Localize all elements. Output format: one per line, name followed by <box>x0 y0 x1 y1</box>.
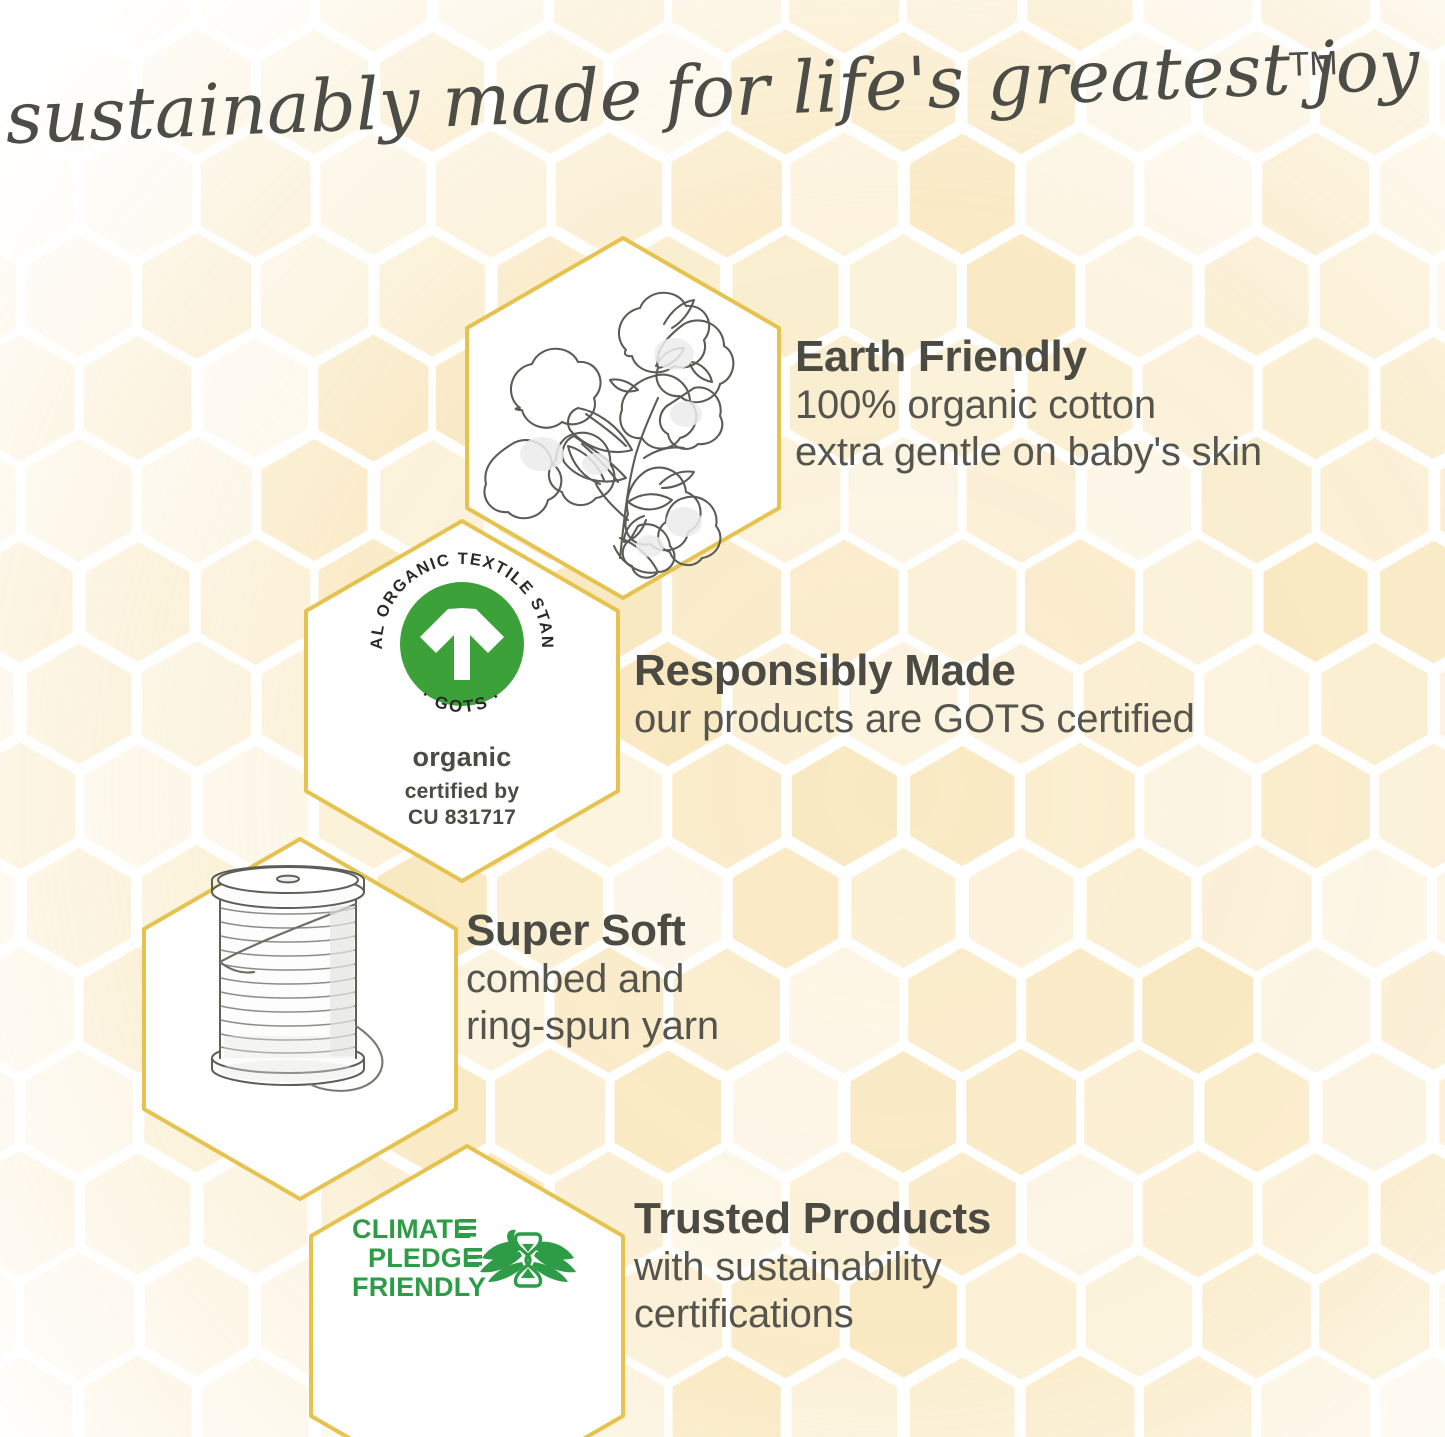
gots-caption-cert-number: CU 831717 <box>302 805 622 831</box>
feature-line: 100% organic cotton <box>795 382 1262 429</box>
trademark-symbol: TM <box>1287 44 1338 84</box>
feature-title: Responsibly Made <box>634 648 1195 694</box>
cpf-line-pledge: PLEDGE <box>368 1243 480 1273</box>
cpf-line-climate: CLIMATE <box>352 1214 471 1244</box>
page-title: sustainably made for life's greatest joy… <box>0 36 1445 151</box>
feature-title: Trusted Products <box>634 1196 991 1242</box>
sustainability-infographic: sustainably made for life's greatest joy… <box>0 0 1445 1437</box>
thread-spool-sketch-icon <box>190 866 410 1101</box>
feature-title: Super Soft <box>466 908 719 954</box>
feature-text-responsibly-made: Responsibly Made our products are GOTS c… <box>634 648 1195 743</box>
cotton-branch-sketch-icon <box>478 258 768 578</box>
feature-title: Earth Friendly <box>795 334 1262 380</box>
feature-text-trusted-products: Trusted Products with sustainability cer… <box>634 1196 991 1337</box>
gots-seal-icon: GLOBAL ORGANIC TEXTILE STANDARD · GOTS · <box>302 552 622 727</box>
page-title-text: sustainably made for life's greatest joy <box>3 22 1421 160</box>
feature-line: combed and <box>466 956 719 1003</box>
feature-line: certifications <box>634 1291 991 1338</box>
feature-line: extra gentle on baby's skin <box>795 429 1262 476</box>
feature-text-earth-friendly: Earth Friendly 100% organic cotton extra… <box>795 334 1262 475</box>
cpf-line-friendly: FRIENDLY <box>352 1272 486 1302</box>
climate-pledge-friendly-logo-icon: CLIMATE PLEDGE FRIENDLY <box>352 1214 592 1319</box>
feature-text-super-soft: Super Soft combed and ring-spun yarn <box>466 908 719 1049</box>
gots-organic-certification-logo-icon: GLOBAL ORGANIC TEXTILE STANDARD · GOTS ·… <box>302 552 622 830</box>
gots-caption-certified-by: certified by <box>302 779 622 805</box>
feature-line: ring-spun yarn <box>466 1003 719 1050</box>
feature-line: our products are GOTS certified <box>634 696 1195 743</box>
winged-hourglass-icon <box>480 1230 576 1286</box>
gots-caption-organic: organic <box>302 742 622 773</box>
feature-line: with sustainability <box>634 1244 991 1291</box>
